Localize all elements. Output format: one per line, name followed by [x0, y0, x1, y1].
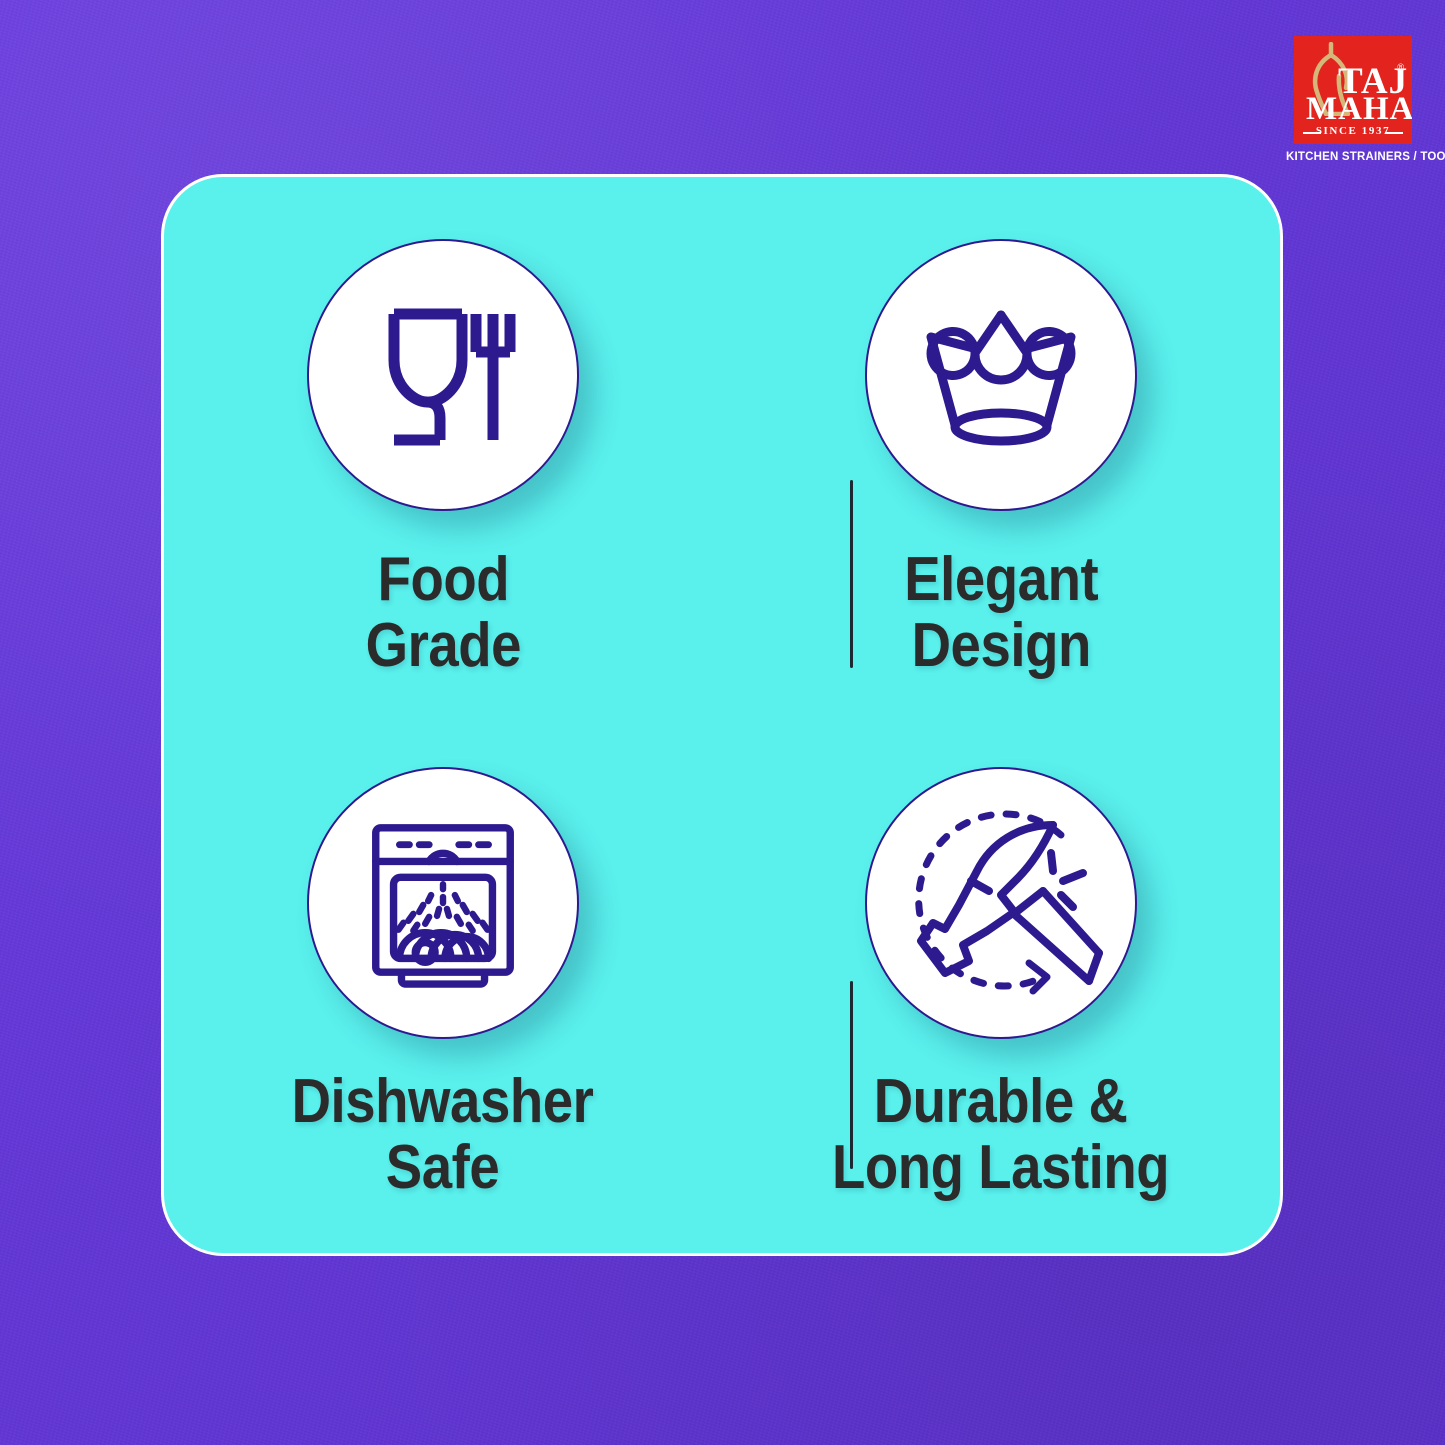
hammer-impact-icon: [893, 795, 1109, 1011]
brand-logo-mark: TAJ ® MAHAL SINCE 1937: [1294, 36, 1412, 144]
feature-icon-badge: [307, 767, 579, 1039]
feature-elegant-design: Elegant Design: [722, 177, 1280, 715]
brand-logo: TAJ ® MAHAL SINCE 1937 KITCHEN STRAINERS…: [1286, 36, 1420, 163]
brand-since-text: SINCE 1937: [1294, 125, 1412, 137]
feature-label: Dishwasher Safe: [292, 1069, 594, 1202]
feature-badge-poster: TAJ ® MAHAL SINCE 1937 KITCHEN STRAINERS…: [0, 0, 1445, 1445]
features-card: Food Grade Ele: [161, 174, 1283, 1256]
glass-and-fork-food-safe-icon: [358, 290, 528, 460]
brand-name-line2: MAHAL: [1306, 93, 1412, 126]
registered-trademark-icon: ®: [1397, 62, 1404, 72]
feature-label: Elegant Design: [904, 547, 1098, 680]
feature-icon-badge: [865, 767, 1137, 1039]
crown-icon: [911, 285, 1091, 465]
dishwasher-icon: [354, 814, 532, 992]
feature-icon-badge: [307, 239, 579, 511]
feature-label: Food Grade: [365, 547, 520, 680]
divider-vertical-top: [850, 480, 853, 668]
feature-icon-badge: [865, 239, 1137, 511]
divider-vertical-bottom: [850, 981, 853, 1169]
feature-label: Durable & Long Lasting: [832, 1069, 1169, 1202]
features-grid: Food Grade Ele: [164, 177, 1280, 1253]
feature-food-grade: Food Grade: [164, 177, 722, 715]
feature-durable-long-lasting: Durable & Long Lasting: [722, 715, 1280, 1253]
brand-caption: KITCHEN STRAINERS / TOOLS: [1286, 151, 1420, 163]
feature-dishwasher-safe: Dishwasher Safe: [164, 715, 722, 1253]
